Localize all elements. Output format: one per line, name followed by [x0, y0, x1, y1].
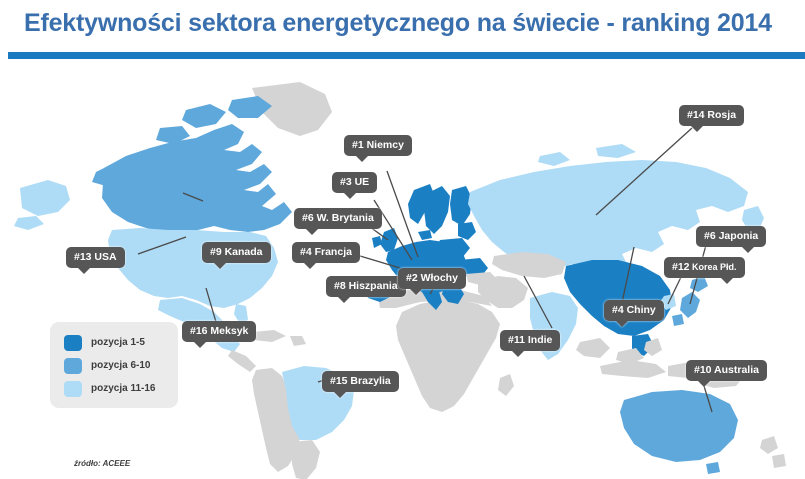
callout-indie[interactable]: #11 Indie: [500, 330, 560, 351]
country-australia: [620, 390, 738, 462]
legend-label-rank-1-5: pozycja 1-5: [91, 337, 145, 348]
callout-hiszpania[interactable]: #8 Hiszpania: [326, 276, 406, 297]
slide-root: Efektywności sektora energetycznego na ś…: [0, 0, 805, 479]
legend-row-2: pozycja 6-10: [64, 354, 178, 377]
callout-chiny[interactable]: #4 Chiny: [604, 300, 664, 321]
callout-wbrytania[interactable]: #6 W. Brytania: [294, 208, 382, 229]
title-divider: [8, 52, 805, 59]
country-japan-hokkaido: [690, 276, 708, 292]
country-canada-arctic-a: [182, 104, 226, 128]
country-new-zealand-a: [760, 436, 778, 454]
legend-swatch-rank-11-16: [64, 381, 82, 397]
country-japan-kyushu: [672, 314, 684, 326]
country-denmark: [418, 230, 432, 240]
country-russia-islands-b: [538, 152, 570, 166]
country-usa-alaska-tail: [14, 216, 44, 230]
callout-korea-name: Korea Płd.: [690, 262, 737, 272]
callout-kanada[interactable]: #9 Kanada: [202, 242, 271, 263]
country-uk: [380, 228, 398, 252]
leader-korea: [668, 275, 682, 304]
country-usa: [108, 228, 278, 308]
region-south-america-south: [292, 440, 320, 479]
callout-brazylia[interactable]: #15 Brazylia: [322, 371, 399, 392]
legend-row-3: pozycja 11-16: [64, 377, 178, 400]
region-southeast-asia-a: [576, 338, 610, 358]
callout-usa[interactable]: #13 USA: [66, 247, 125, 268]
country-ireland: [372, 236, 382, 248]
callout-wlochy[interactable]: #2 Włochy: [398, 268, 466, 289]
legend-label-rank-11-16: pozycja 11-16: [91, 383, 155, 394]
callout-australia[interactable]: #10 Australia: [686, 360, 767, 381]
callout-meksyk[interactable]: #16 Meksyk: [182, 321, 256, 342]
callout-korea[interactable]: #12 Korea Płd.: [664, 257, 745, 278]
country-canada: [102, 124, 292, 234]
legend-swatch-rank-1-5: [64, 335, 82, 351]
callout-niemcy[interactable]: #1 Niemcy: [344, 135, 412, 156]
page-title: Efektywności sektora energetycznego na ś…: [24, 9, 772, 38]
callout-korea-rank: #12: [672, 261, 690, 273]
callout-rosja[interactable]: #14 Rosja: [679, 105, 744, 126]
world-map-stage: .g{fill:#d4d4d4} .b1{fill:#1b7fc4} .b2{f…: [0, 60, 805, 479]
country-baltics: [458, 222, 476, 240]
callout-japonia[interactable]: #6 Japonia: [696, 226, 766, 247]
region-africa: [396, 300, 500, 412]
legend-label-rank-6-10: pozycja 6-10: [91, 360, 150, 371]
country-japan-honshu: [680, 292, 700, 318]
country-usa-alaska: [20, 180, 70, 216]
legend-row-1: pozycja 1-5: [64, 331, 178, 354]
source-note: źródło: ACEEE: [74, 459, 130, 468]
callout-francja[interactable]: #4 Francja: [292, 242, 360, 263]
map-legend: pozycja 1-5 pozycja 6-10 pozycja 11-16: [50, 322, 178, 408]
region-central-america: [228, 350, 256, 372]
country-finland: [450, 186, 472, 226]
legend-swatch-rank-6-10: [64, 358, 82, 374]
country-tasmania: [706, 462, 720, 474]
slide-header: Efektywności sektora energetycznego na ś…: [0, 0, 805, 60]
country-russia-islands-a: [596, 144, 636, 158]
callout-ue[interactable]: #3 UE: [332, 172, 377, 193]
country-madagascar: [498, 374, 514, 396]
country-new-zealand-b: [772, 454, 786, 468]
region-caribbean-b: [290, 336, 306, 346]
region-caribbean-a: [252, 330, 286, 342]
